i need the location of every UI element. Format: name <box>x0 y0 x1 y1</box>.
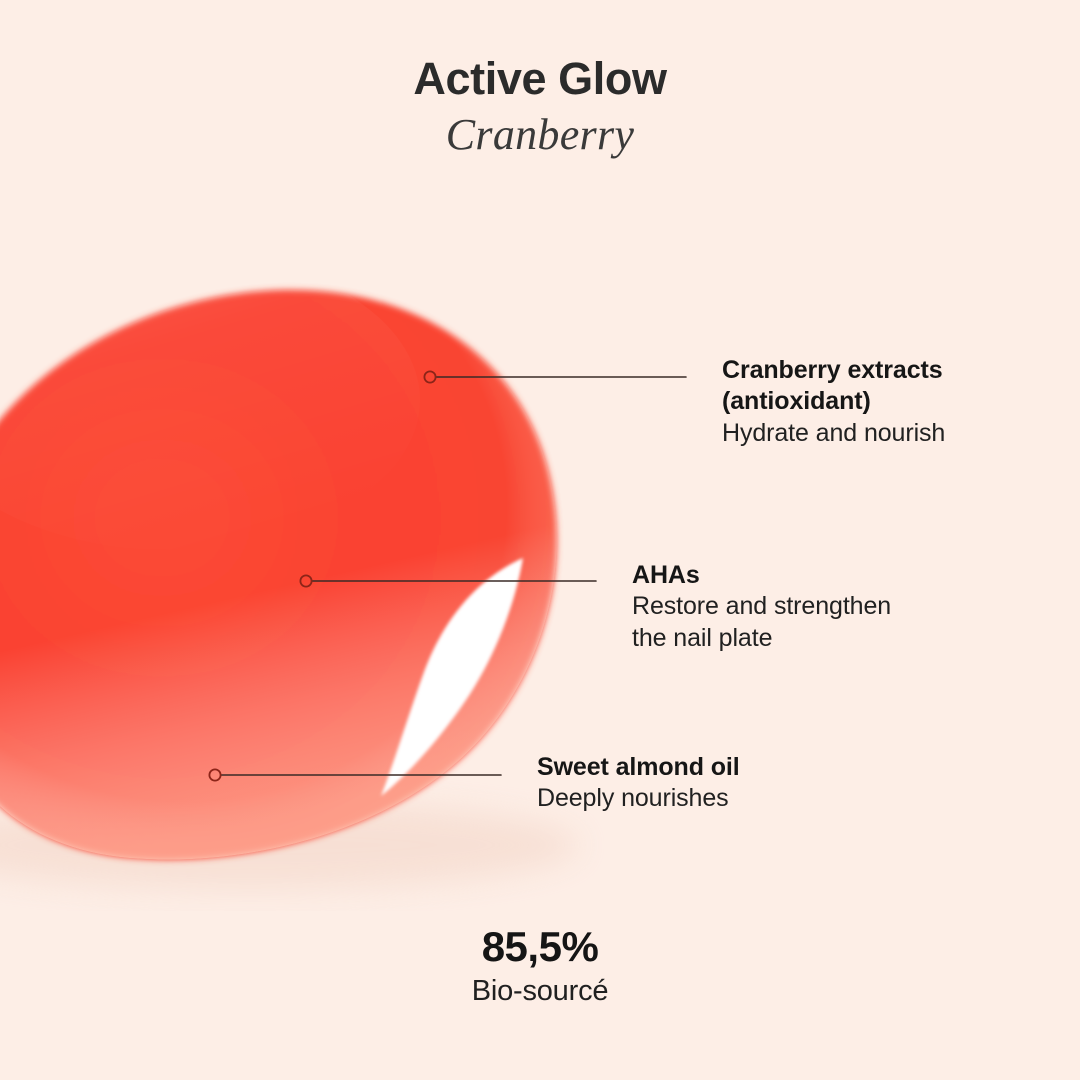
leader-marker-1 <box>424 371 435 382</box>
leader-marker-3 <box>209 769 220 780</box>
callout-description: Hydrate and nourish <box>722 418 1052 449</box>
callout-description: Deeply nourishes <box>537 783 937 814</box>
leader-lines <box>209 371 686 780</box>
drop-bottom-softness <box>0 290 557 860</box>
nail-polish-drop-illustration <box>0 0 1080 1080</box>
callout-title: Sweet almond oil <box>537 752 937 783</box>
gloss-highlight <box>381 558 523 796</box>
callout-ahas: AHAs Restore and strengthen the nail pla… <box>632 560 992 654</box>
callout-cranberry-extracts: Cranberry extracts (antioxidant) Hydrate… <box>722 355 1052 449</box>
callout-title: Cranberry extracts (antioxidant) <box>722 355 1052 418</box>
drop-rim-light <box>0 290 557 860</box>
drop-shadow <box>0 801 580 889</box>
header: Active Glow Cranberry <box>0 56 1080 157</box>
footer-statistic: 85,5% Bio-sourcé <box>0 925 1080 1009</box>
drop-top-sheen <box>0 250 420 550</box>
stat-label: Bio-sourcé <box>0 974 1080 1009</box>
drop-body <box>0 290 557 860</box>
stat-value: 85,5% <box>0 925 1080 969</box>
page-title: Active Glow <box>0 56 1080 101</box>
callout-sweet-almond-oil: Sweet almond oil Deeply nourishes <box>537 752 937 815</box>
callout-description: Restore and strengthen the nail plate <box>632 591 992 654</box>
callout-title: AHAs <box>632 560 992 591</box>
leader-marker-2 <box>300 575 311 586</box>
product-infographic: Active Glow Cranberry <box>0 0 1080 1080</box>
page-subtitle: Cranberry <box>0 113 1080 157</box>
